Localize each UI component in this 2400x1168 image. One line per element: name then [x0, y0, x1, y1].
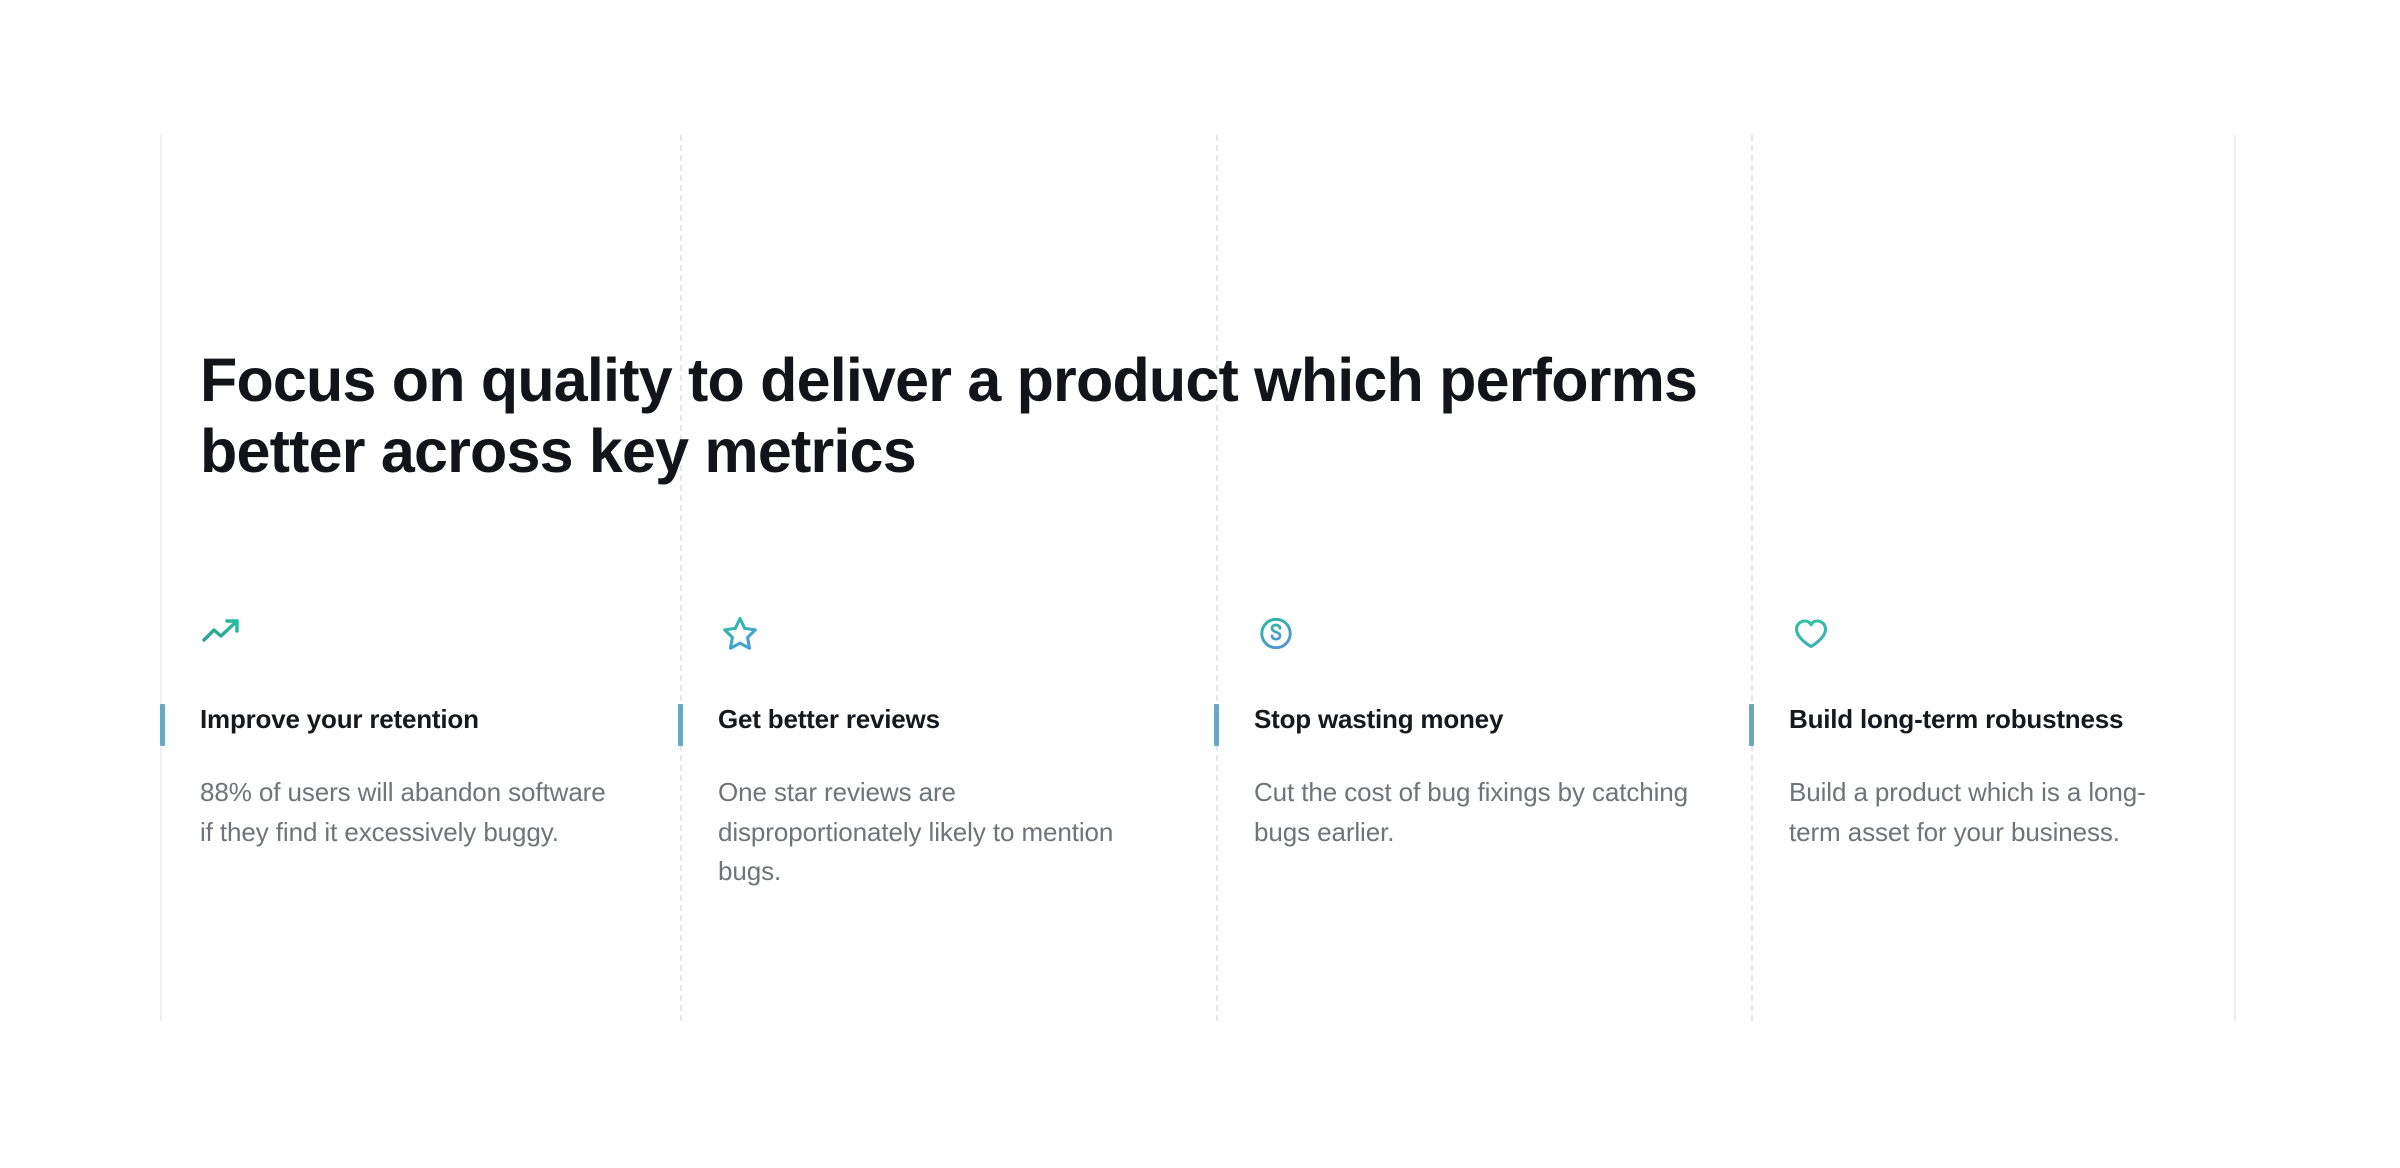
dollar-circle-icon	[1254, 612, 1689, 656]
card-title-wrap: Get better reviews	[718, 702, 1154, 737]
feature-card-list: Improve your retention 88% of users will…	[160, 612, 2236, 892]
section-heading: Focus on quality to deliver a product wh…	[200, 345, 1700, 488]
heart-icon	[1789, 612, 2176, 656]
card-title-wrap: Stop wasting money	[1254, 702, 1689, 737]
trending-up-icon	[200, 612, 618, 656]
feature-card: Improve your retention 88% of users will…	[160, 612, 678, 892]
card-title: Build long-term robustness	[1789, 702, 2176, 737]
feature-card: Build long-term robustness Build a produ…	[1749, 612, 2236, 892]
card-title: Improve your retention	[200, 702, 618, 737]
card-body: One star reviews are disproportionately …	[718, 773, 1154, 892]
feature-card: Stop wasting money Cut the cost of bug f…	[1214, 612, 1749, 892]
card-body: 88% of users will abandon software if th…	[200, 773, 618, 852]
card-body: Build a product which is a long-term ass…	[1789, 773, 2176, 852]
accent-bar	[1749, 704, 1754, 746]
card-title-wrap: Improve your retention	[200, 702, 618, 737]
card-body: Cut the cost of bug fixings by catching …	[1254, 773, 1689, 852]
accent-bar	[678, 704, 683, 746]
page-root: Focus on quality to deliver a product wh…	[0, 0, 2400, 1168]
card-title: Stop wasting money	[1254, 702, 1689, 737]
card-title-wrap: Build long-term robustness	[1789, 702, 2176, 737]
feature-card: Get better reviews One star reviews are …	[678, 612, 1214, 892]
accent-bar	[1214, 704, 1219, 746]
card-title: Get better reviews	[718, 702, 1154, 737]
accent-bar	[160, 704, 165, 746]
star-icon	[718, 612, 1154, 656]
